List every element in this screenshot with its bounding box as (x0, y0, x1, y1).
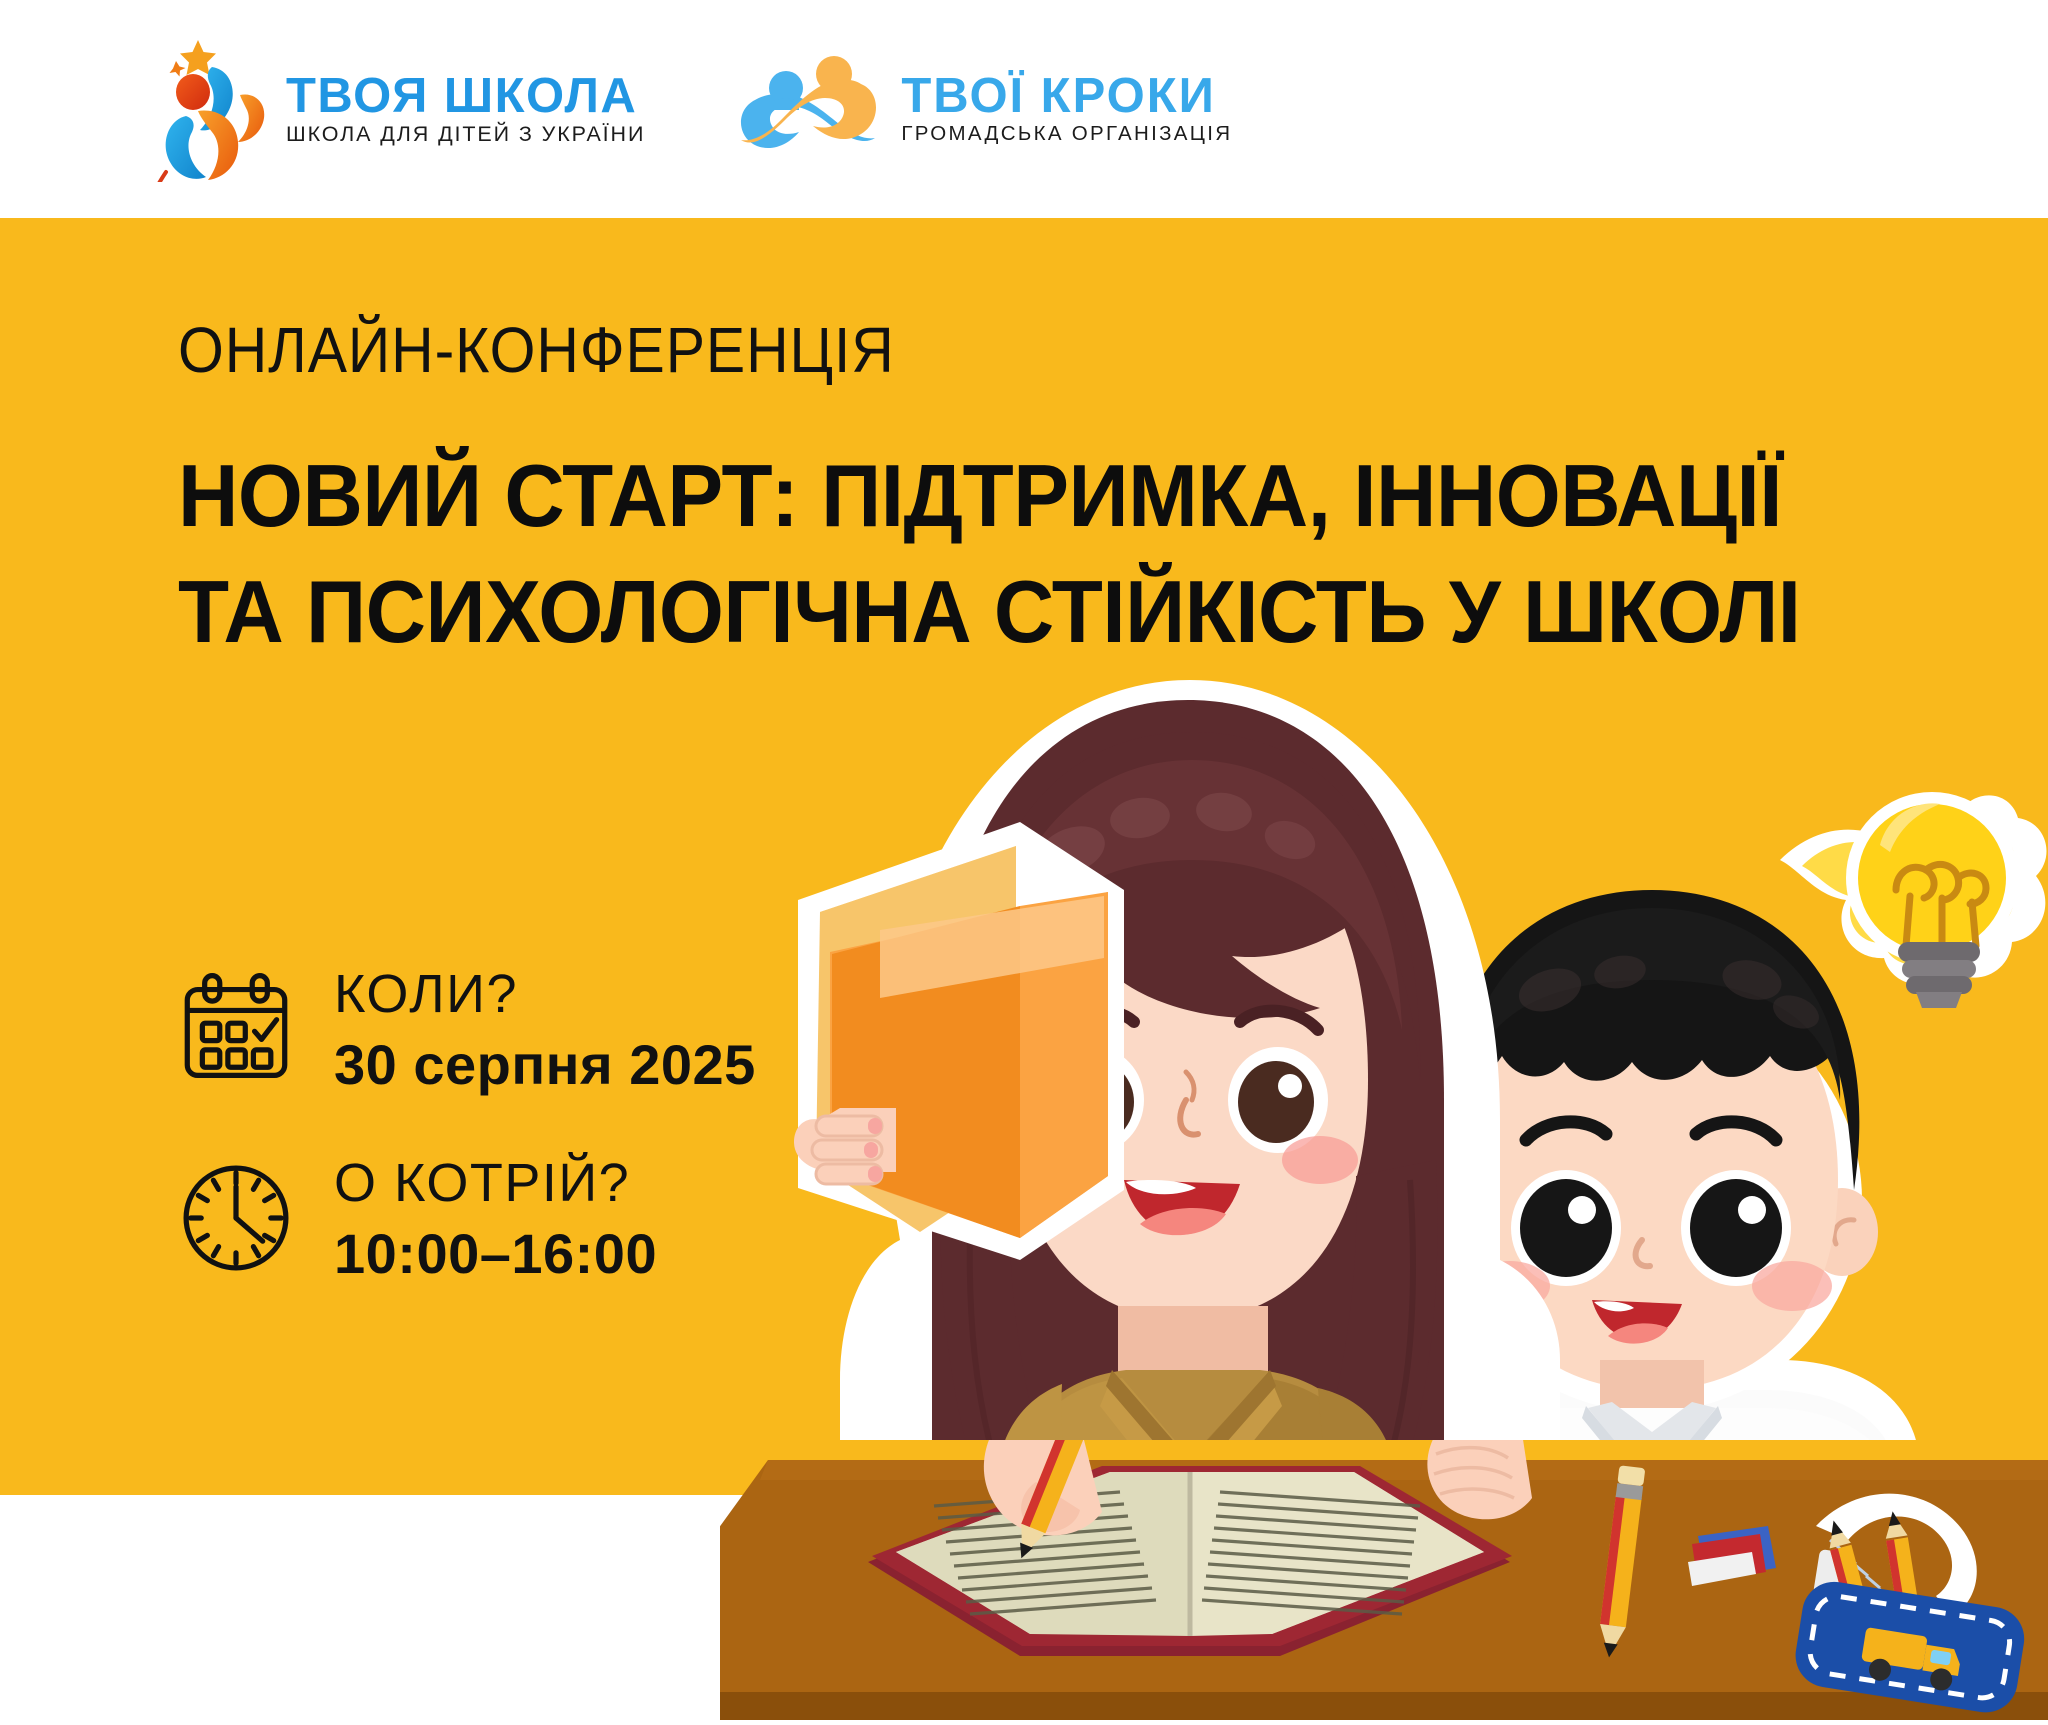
info-value-time: 10:00–16:00 (334, 1220, 657, 1287)
logo-subtitle: ГРОМАДСЬКА ОРГАНІЗАЦІЯ (901, 122, 1232, 147)
logo-title: ТВОЯ ШКОЛА (286, 71, 645, 122)
info-texts-when: КОЛИ? 30 серпня 2025 (334, 963, 756, 1098)
headline-block: ОНЛАЙН-КОНФЕРЕНЦІЯ НОВИЙ СТАРТ: ПІДТРИМК… (178, 318, 1938, 670)
info-texts-time: О КОТРІЙ? 10:00–16:00 (334, 1152, 657, 1287)
eyebrow-text: ОНЛАЙН-КОНФЕРЕНЦІЯ (178, 318, 1797, 382)
info-label-time: О КОТРІЙ? (334, 1152, 657, 1216)
clock-icon (178, 1160, 294, 1276)
running-figure-star-logo-icon (140, 32, 268, 187)
logo-tvoya-shkola-text: ТВОЯ ШКОЛА ШКОЛА ДЛЯ ДІТЕЙ З УКРАЇНИ (286, 71, 645, 148)
logo-tvoi-kroky-text: ТВОЇ КРОКИ ГРОМАДСЬКА ОРГАНІЗАЦІЯ (901, 71, 1232, 147)
info-label-when: КОЛИ? (334, 963, 756, 1027)
logo-title: ТВОЇ КРОКИ (901, 71, 1232, 122)
page-title: НОВИЙ СТАРТ: ПІДТРИМКА, ІННОВАЦІЇ ТА ПСИ… (178, 438, 1822, 670)
logo-tvoi-kroky: ТВОЇ КРОКИ ГРОМАДСЬКА ОРГАНІЗАЦІЯ (733, 52, 1232, 167)
two-people-infinity-logo-icon (733, 52, 883, 167)
logo-tvoya-shkola: ТВОЯ ШКОЛА ШКОЛА ДЛЯ ДІТЕЙ З УКРАЇНИ (140, 32, 645, 187)
event-info-block: КОЛИ? 30 серпня 2025 (178, 963, 756, 1341)
logo-subtitle: ШКОЛА ДЛЯ ДІТЕЙ З УКРАЇНИ (286, 122, 645, 148)
info-row-time: О КОТРІЙ? 10:00–16:00 (178, 1152, 756, 1287)
info-value-date: 30 серпня 2025 (334, 1031, 756, 1098)
logo-bar: ТВОЯ ШКОЛА ШКОЛА ДЛЯ ДІТЕЙ З УКРАЇНИ ТВО… (0, 0, 2048, 218)
orange-book (794, 822, 1124, 1260)
info-row-when: КОЛИ? 30 серпня 2025 (178, 963, 756, 1098)
poster-root: ТВОЯ ШКОЛА ШКОЛА ДЛЯ ДІТЕЙ З УКРАЇНИ ТВО… (0, 0, 2048, 1717)
desk-with-supplies (720, 1440, 2048, 1720)
calendar-icon (178, 971, 294, 1087)
